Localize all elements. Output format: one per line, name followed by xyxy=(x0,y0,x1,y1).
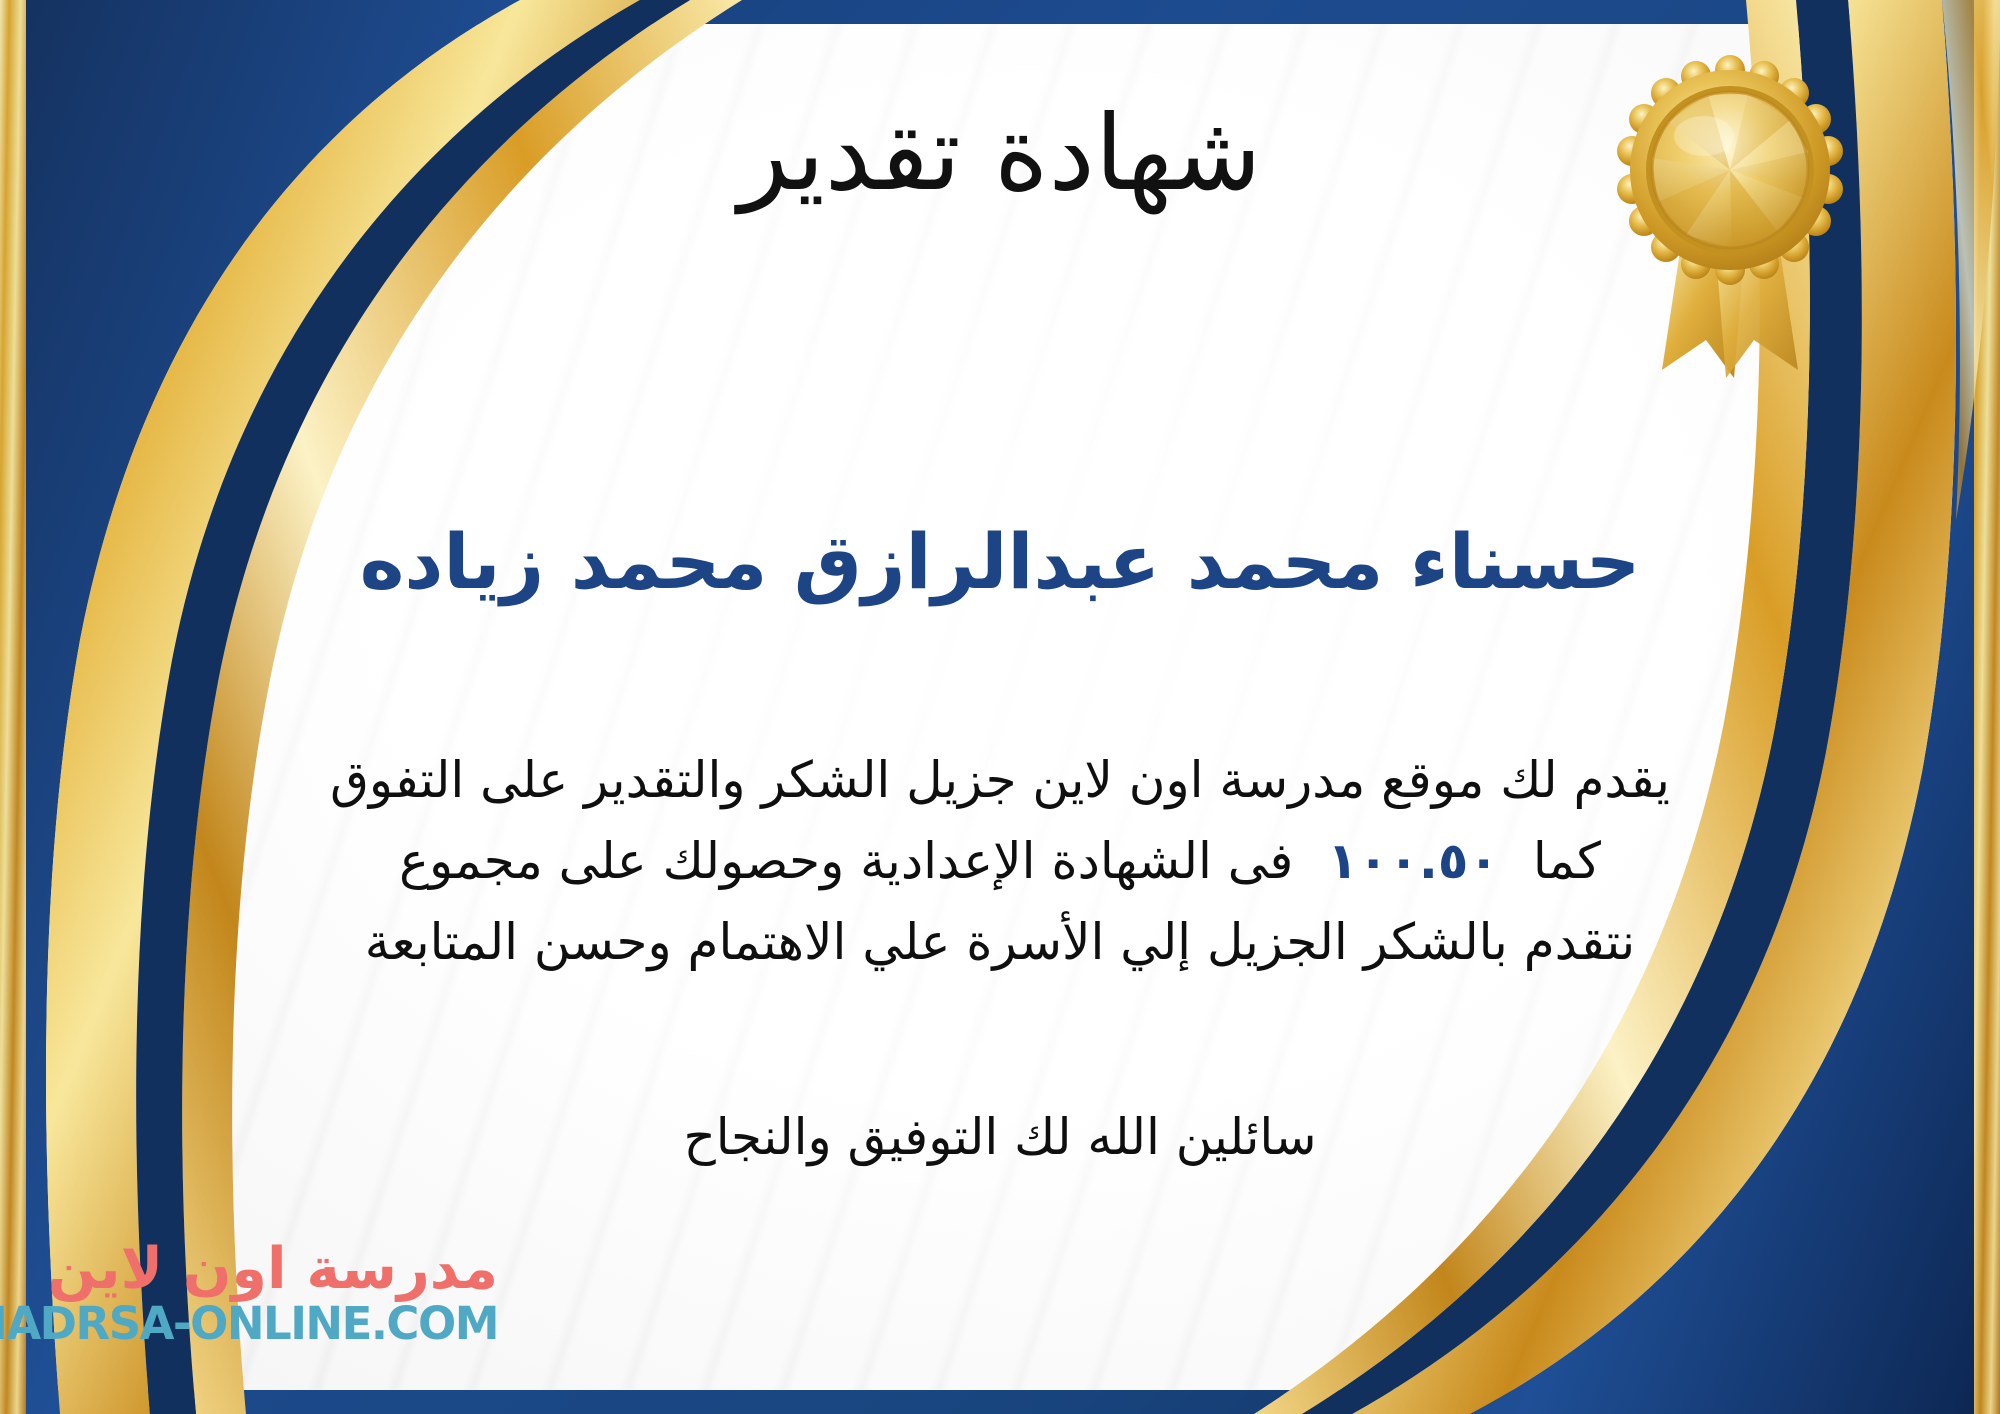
recipient-name: حسناء محمد عبدالرازق محمد زياده xyxy=(0,516,2000,607)
body-line-2: كما١٠٠.٥٠فى الشهادة الإعدادية وحصولك على… xyxy=(60,821,1940,902)
brand-logo[interactable]: مدرسة اون لاين MADRSA-ONLINE.COM xyxy=(28,1240,498,1390)
body-line-3: نتقدم بالشكر الجزيل إلي الأسرة علي الاهت… xyxy=(60,902,1940,983)
body-line-1: يقدم لك موقع مدرسة اون لاين جزيل الشكر و… xyxy=(60,740,1940,821)
logo-arabic-name: مدرسة اون لاين xyxy=(48,1240,498,1300)
certificate-body: يقدم لك موقع مدرسة اون لاين جزيل الشكر و… xyxy=(60,740,1940,983)
logo-website: MADRSA-ONLINE.COM xyxy=(0,1300,498,1347)
body-line-2-suffix: كما xyxy=(1533,832,1601,890)
grade-value: ١٠٠.٥٠ xyxy=(1293,832,1533,890)
certificate-page: شهادة تقدير حسناء محمد عبدالرازق محمد زي… xyxy=(0,0,2000,1414)
body-line-2-prefix: فى الشهادة الإعدادية وحصولك على مجموع xyxy=(399,832,1293,890)
closing-wish: سائلين الله لك التوفيق والنجاح xyxy=(0,1100,2000,1175)
gold-medal-rosette-icon xyxy=(1610,48,1850,398)
